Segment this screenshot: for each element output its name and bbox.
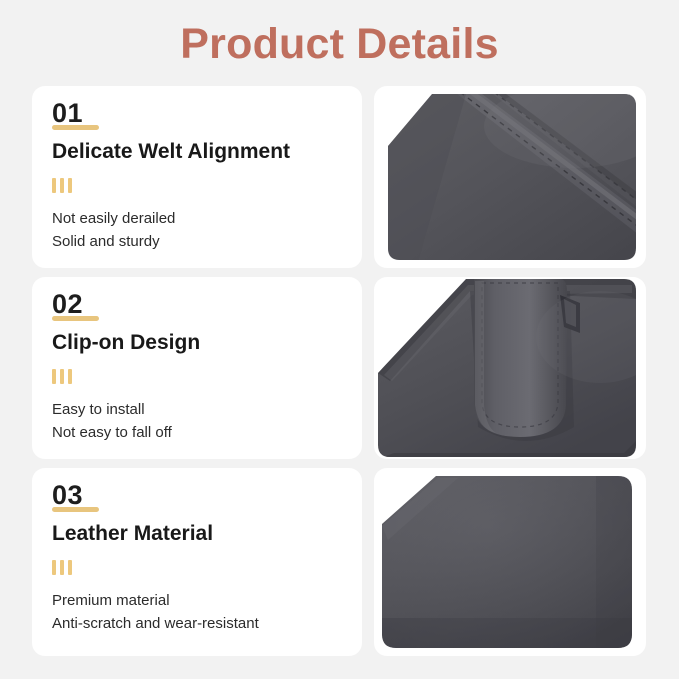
product-photo-welt-image <box>374 86 646 268</box>
accent-bars-icon <box>52 369 342 384</box>
feature-card-02[interactable]: 02 Clip-on Design Easy to install Not ea… <box>32 277 362 459</box>
leather-top-fold <box>418 86 494 94</box>
feature-description-line: Anti-scratch and wear-resistant <box>52 613 342 636</box>
page-title: Product Details <box>0 22 679 67</box>
accent-bar <box>52 560 56 575</box>
product-photo-list <box>374 86 646 671</box>
product-photo-leather-image <box>374 468 646 656</box>
product-photo-welt[interactable] <box>374 86 646 268</box>
product-photo-clip-image <box>374 277 646 459</box>
feature-description: Not easily derailed Solid and sturdy <box>52 208 342 254</box>
feature-number: 03 <box>52 480 83 510</box>
accent-bars-icon <box>52 560 342 575</box>
feature-heading: Delicate Welt Alignment <box>52 139 342 164</box>
feature-description: Easy to install Not easy to fall off <box>52 399 342 445</box>
feature-number: 01 <box>52 98 83 128</box>
accent-bar <box>60 178 64 193</box>
feature-list: 01 Delicate Welt Alignment Not easily de… <box>32 86 362 671</box>
feature-card-03[interactable]: 03 Leather Material Premium material Ant… <box>32 468 362 656</box>
feature-description: Premium material Anti-scratch and wear-r… <box>52 590 342 636</box>
accent-bars-icon <box>52 178 342 193</box>
feature-heading: Leather Material <box>52 521 342 546</box>
feature-heading: Clip-on Design <box>52 330 342 355</box>
content-area: 01 Delicate Welt Alignment Not easily de… <box>0 86 679 671</box>
feature-description-line: Premium material <box>52 590 342 613</box>
accent-bar <box>60 560 64 575</box>
accent-bar <box>52 369 56 384</box>
accent-bar <box>52 178 56 193</box>
accent-bar <box>68 369 72 384</box>
accent-bar <box>60 369 64 384</box>
feature-number: 02 <box>52 289 83 319</box>
product-photo-leather[interactable] <box>374 468 646 656</box>
feature-description-line: Easy to install <box>52 399 342 422</box>
leather-sheen <box>374 468 646 656</box>
product-photo-clip[interactable] <box>374 277 646 459</box>
accent-bar <box>68 178 72 193</box>
feature-card-01[interactable]: 01 Delicate Welt Alignment Not easily de… <box>32 86 362 268</box>
feature-description-line: Not easily derailed <box>52 208 342 231</box>
feature-description-line: Not easy to fall off <box>52 422 342 445</box>
feature-description-line: Solid and sturdy <box>52 231 342 254</box>
accent-bar <box>68 560 72 575</box>
